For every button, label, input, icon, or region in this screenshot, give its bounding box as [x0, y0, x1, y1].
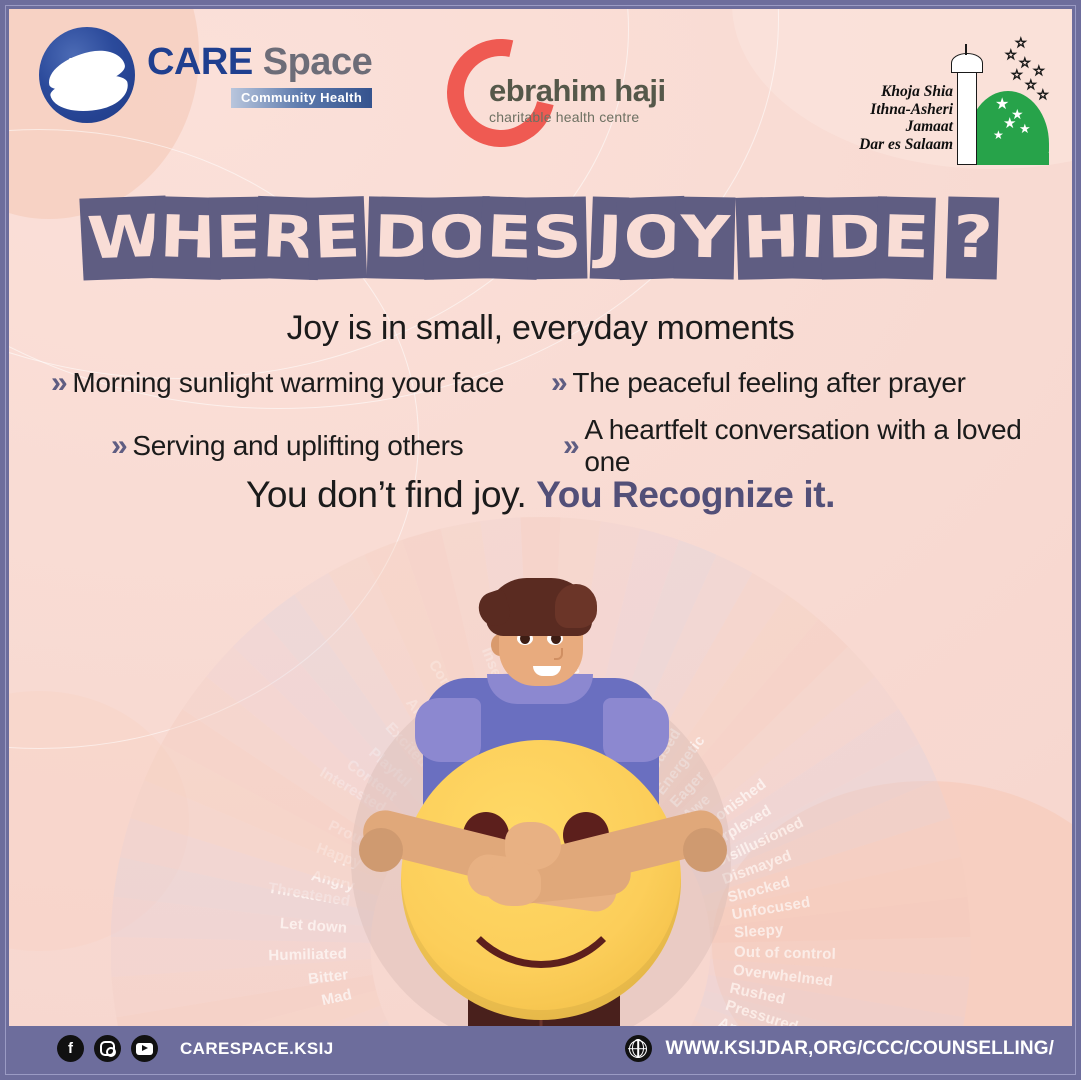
list-item-label: Morning sunlight warming your face	[72, 367, 504, 399]
ksij-line-1: Khoja Shia	[835, 83, 953, 101]
double-chevron-icon: »	[551, 368, 567, 398]
ksij-logo-text: Khoja Shia Ithna-Asheri Jamaat Dar es Sa…	[835, 83, 953, 154]
globe-icon[interactable]	[625, 1035, 652, 1062]
man-hugging-smiley-face-illustration	[355, 570, 727, 1040]
ebrahim-logo-sub: charitable health centre	[489, 109, 666, 125]
youtube-icon[interactable]	[131, 1035, 158, 1062]
decor-blob-bottom-left	[9, 691, 189, 951]
wheel-label: Unfocused	[731, 894, 812, 924]
poster-canvas: SuccessfulInquisitiveCuriousJoyfulFreeCh…	[9, 9, 1072, 1071]
list-item-label: Serving and uplifting others	[132, 430, 463, 462]
title-question-mark: ?	[946, 196, 999, 279]
green-mosque-dome-stars-icon: ★ ★ ★ ★ ★ ☆ ☆ ☆ ☆ ☆ ☆ ☆	[945, 35, 1050, 165]
logo-ksij: Khoja Shia Ithna-Asheri Jamaat Dar es Sa…	[835, 27, 1050, 167]
wheel-label: Mad	[320, 986, 353, 1009]
footer-social-group: f CARESPACE.KSIJ	[57, 1035, 334, 1062]
header: CARE Space Community Health ebrahim haji…	[9, 9, 1072, 177]
wheel-label: Humiliated	[268, 945, 347, 964]
care-logo-tagline: Community Health	[231, 88, 372, 108]
two-doves-globe-icon	[39, 27, 135, 123]
wheel-label: Threatened	[267, 880, 352, 910]
list-item: » The peaceful feeling after prayer	[551, 367, 1031, 399]
ksij-line-4: Dar es Salaam	[835, 136, 953, 154]
facebook-icon[interactable]: f	[57, 1035, 84, 1062]
right-hand	[483, 862, 541, 906]
poster: SuccessfulInquisitiveCuriousJoyfulFreeCh…	[0, 0, 1081, 1080]
subtitle: Joy is in small, everyday moments	[9, 309, 1072, 348]
list-item: » Serving and uplifting others	[51, 430, 551, 462]
wheel-label: Out of control	[734, 943, 836, 962]
page-title: WHEREDOESJOYHIDE?	[9, 195, 1072, 279]
logo-care-space: CARE Space Community Health	[39, 27, 372, 123]
wheel-label: Angry	[309, 867, 356, 895]
tagline-plain: You don’t find joy.	[246, 474, 536, 515]
title-letter: E	[875, 196, 935, 279]
list-item: » Morning sunlight warming your face	[51, 367, 551, 399]
instagram-icon[interactable]	[94, 1035, 121, 1062]
footer-handle: CARESPACE.KSIJ	[180, 1039, 334, 1059]
wheel-label: Dismayed	[720, 847, 794, 888]
ebrahim-logo-name: ebrahim haji	[489, 75, 666, 106]
logo-ebrahim-haji: ebrahim haji charitable health centre	[441, 35, 671, 151]
footer-bar: f CARESPACE.KSIJ WWW.KSIJDAR,ORG/CCC/COU…	[9, 1026, 1072, 1071]
double-chevron-icon: »	[111, 431, 127, 461]
ksij-line-2: Ithna-Asheri	[835, 101, 953, 119]
wheel-label: Bitter	[307, 966, 349, 988]
care-logo-primary: CARE	[147, 41, 253, 83]
wheel-label: Let down	[279, 915, 347, 937]
list-item-label: A heartfelt conversation with a loved on…	[584, 414, 1031, 478]
title-letter: Y	[673, 197, 735, 280]
bullet-list: » Morning sunlight warming your face » T…	[51, 367, 1048, 478]
care-logo-secondary: Space	[263, 41, 372, 83]
wheel-label: Overwhelmed	[732, 961, 834, 990]
title-letter: S	[526, 197, 588, 280]
double-chevron-icon: »	[51, 368, 67, 398]
ksij-line-3: Jamaat	[835, 118, 953, 136]
wheel-label: Rushed	[728, 979, 787, 1007]
footer-website-group[interactable]: WWW.KSIJDAR,ORG/CCC/COUNSELLING/	[625, 1035, 1054, 1062]
list-item-label: The peaceful feeling after prayer	[572, 367, 965, 399]
wheel-label: Shocked	[726, 873, 792, 906]
footer-website-url[interactable]: WWW.KSIJDAR,ORG/CCC/COUNSELLING/	[666, 1038, 1054, 1060]
tagline: You don’t find joy. You Recognize it.	[9, 474, 1072, 516]
tagline-bold: You Recognize it.	[536, 474, 835, 515]
title-letter: E	[306, 196, 367, 280]
double-chevron-icon: »	[563, 431, 579, 461]
wheel-label: Sleepy	[733, 921, 784, 941]
list-item: » A heartfelt conversation with a loved …	[551, 414, 1031, 478]
